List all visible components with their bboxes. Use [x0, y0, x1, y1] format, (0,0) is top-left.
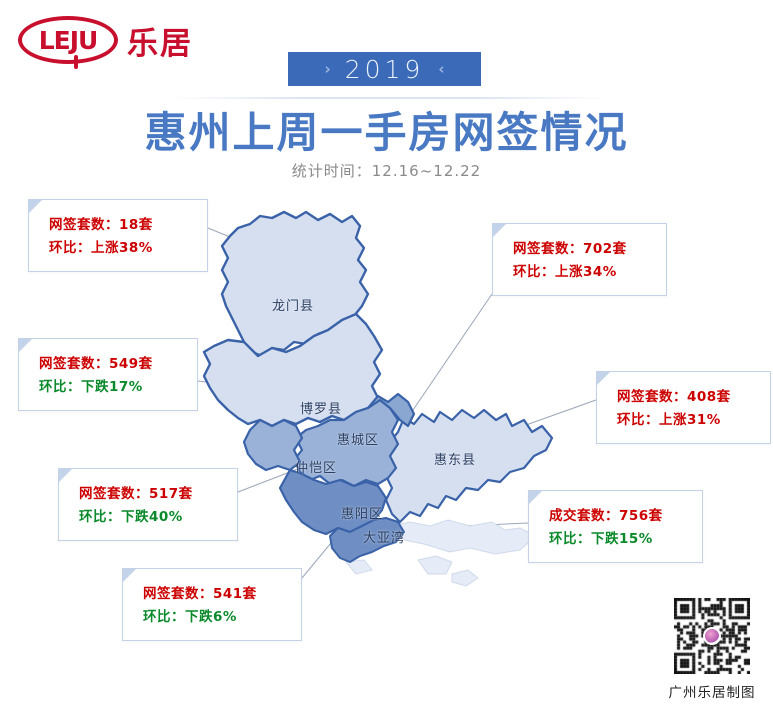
callout-zhongkai: 网签套数：517套环比：下跌40%: [58, 468, 238, 541]
callout-longmen: 网签套数：18套环比：上涨38%: [28, 199, 208, 272]
callout-count-label: 网签套数：541套: [143, 582, 285, 602]
logo-oval-icon: LEJU: [18, 16, 118, 64]
callout-change-label: 环比：下跌6%: [143, 605, 285, 625]
callout-huicheng: 网签套数：702套环比：上涨34%: [492, 223, 667, 296]
callout-count-label: 网签套数：18套: [49, 213, 191, 233]
callout-change-label: 环比：上涨38%: [49, 236, 191, 256]
credit-label: 广州乐居制图: [668, 681, 756, 701]
logo-wordmark: LEJU: [39, 26, 98, 55]
folded-corner-icon: [59, 469, 72, 482]
year-label: 2019: [345, 55, 425, 84]
callout-change-label: 环比：下跌17%: [39, 375, 181, 395]
callout-boluo: 网签套数：549套环比：下跌17%: [18, 338, 198, 411]
folded-corner-icon: [597, 372, 610, 385]
callout-count-label: 网签套数：549套: [39, 352, 181, 372]
callout-change-label: 环比：上涨34%: [513, 260, 650, 280]
region-zhongkai: [244, 420, 302, 470]
map-label-4: 惠东县: [434, 449, 476, 468]
map-label-0: 龙门县: [272, 295, 314, 314]
folded-corner-icon: [493, 224, 506, 237]
callout-change-label: 环比：下跌15%: [549, 527, 686, 547]
callout-count-label: 网签套数：517套: [79, 482, 221, 502]
logo-wordmark-cn: 乐居: [127, 18, 193, 63]
callout-huiyang: 网签套数：541套环比：下跌6%: [122, 568, 302, 641]
map-label-2: 惠城区: [337, 429, 379, 448]
qr-logo-icon: [703, 627, 721, 645]
callout-change-label: 环比：上涨31%: [617, 408, 754, 428]
callout-dayawan: 成交套数：756套环比：下跌15%: [528, 490, 703, 563]
leju-logo: LEJU 乐居: [18, 16, 193, 64]
map-label-5: 惠阳区: [341, 503, 383, 522]
year-banner: › 2019 ‹: [288, 52, 481, 86]
folded-corner-icon: [529, 491, 542, 504]
callout-count-label: 网签套数：408套: [617, 385, 754, 405]
map-label-3: 仲恺区: [295, 457, 337, 476]
page-title: 惠州上周一手房网签情况: [0, 99, 773, 160]
qr-block: 广州乐居制图: [668, 598, 756, 701]
chevron-left-icon: ‹: [438, 60, 444, 78]
map-label-1: 博罗县: [300, 398, 342, 417]
folded-corner-icon: [123, 569, 136, 582]
folded-corner-icon: [19, 339, 32, 352]
callout-count-label: 成交套数：756套: [549, 504, 686, 524]
chevron-right-icon: ›: [325, 60, 331, 78]
callout-change-label: 环比：下跌40%: [79, 505, 221, 525]
folded-corner-icon: [29, 200, 42, 213]
qr-code-icon[interactable]: [674, 598, 750, 674]
map-label-6: 大亚湾: [363, 527, 405, 546]
callout-count-label: 网签套数：702套: [513, 237, 650, 257]
infographic-page: LEJU 乐居 › 2019 ‹ 惠州上周一手房网签情况 统计时间：12.16~…: [0, 0, 773, 725]
callout-huidong: 网签套数：408套环比：上涨31%: [596, 371, 771, 444]
